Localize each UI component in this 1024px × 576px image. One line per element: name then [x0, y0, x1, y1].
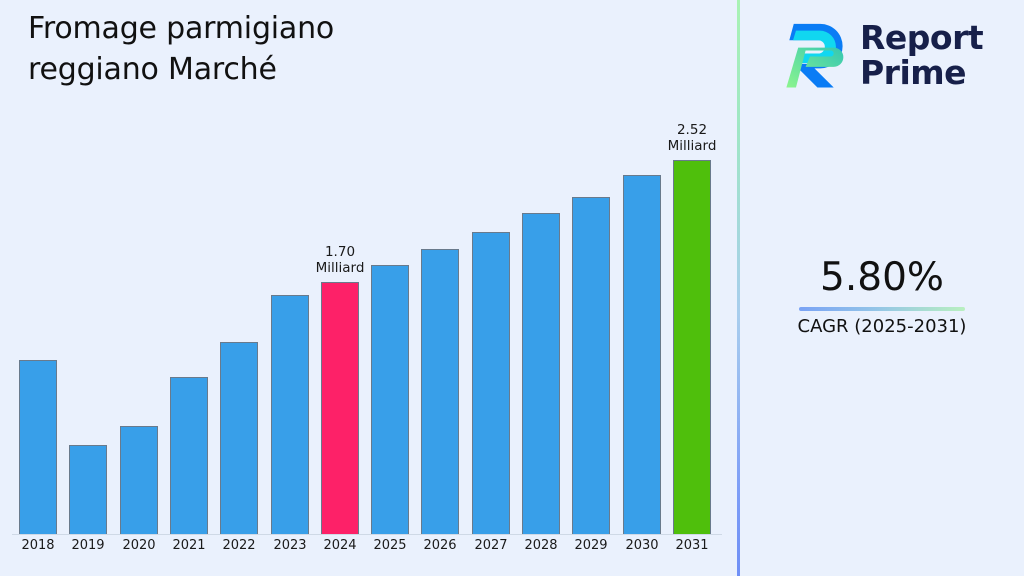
logo-word-prime: Prime	[860, 55, 983, 90]
report-prime-monogram-icon	[776, 18, 850, 92]
bar-2030	[623, 175, 661, 534]
x-tick-2031: 2031	[662, 538, 722, 553]
bar-2027	[472, 232, 510, 534]
bar-value-label-2024: 1.70 Milliard	[290, 244, 390, 276]
logo-wordmark: Report Prime	[860, 20, 983, 90]
cagr-caption: CAGR (2025-2031)	[740, 315, 1024, 339]
logo-word-report: Report	[860, 20, 983, 55]
report-prime-logo: Report Prime	[776, 12, 1008, 98]
cagr-block: 5.80% CAGR (2025-2031)	[740, 255, 1024, 339]
cagr-underline	[799, 307, 965, 311]
infographic-page: Fromage parmigiano reggiano Marché 1.70 …	[0, 0, 1024, 576]
x-axis-line	[12, 534, 722, 535]
bar-2023	[271, 295, 309, 534]
cagr-value: 5.80%	[740, 255, 1024, 301]
bar-2029	[572, 197, 610, 534]
page-title: Fromage parmigiano reggiano Marché	[28, 8, 458, 90]
bar-value-label-2031: 2.52 Milliard	[642, 122, 742, 154]
bar-2024	[321, 282, 359, 534]
bar-2025	[371, 265, 409, 534]
bar-2026	[421, 249, 459, 534]
brand-panel: Report Prime 5.80% CAGR (2025-2031)	[740, 0, 1024, 576]
bar-2021	[170, 377, 208, 534]
bar-2019	[69, 445, 107, 534]
bar-chart-plot-area: 1.70 Milliard2.52 Milliard	[0, 130, 738, 536]
bar-2031	[673, 160, 711, 534]
chart-panel: Fromage parmigiano reggiano Marché 1.70 …	[0, 0, 738, 576]
bar-2028	[522, 213, 560, 534]
x-axis-tick-labels: 2018201920202021202220232024202520262027…	[0, 538, 738, 568]
bar-2022	[220, 342, 258, 534]
bar-2018	[19, 360, 57, 534]
bar-2020	[120, 426, 158, 534]
